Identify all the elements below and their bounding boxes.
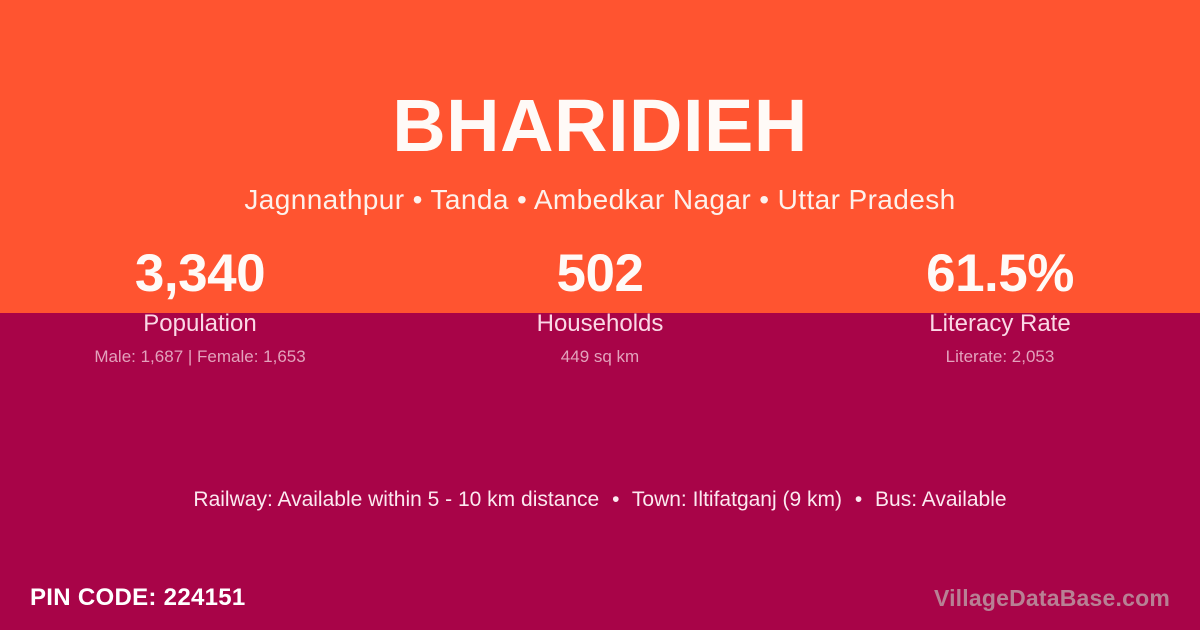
stat-literacy-label: Literacy Rate: [800, 309, 1200, 339]
stat-population: 3,340 Population Male: 1,687 | Female: 1…: [0, 243, 400, 368]
stat-literacy-value: 61.5%: [800, 243, 1200, 305]
stat-households-value: 502: [400, 243, 800, 305]
stat-literacy: 61.5% Literacy Rate Literate: 2,053: [800, 243, 1200, 368]
stat-population-label: Population: [0, 309, 400, 339]
footer: PIN CODE: 224151 VillageDataBase.com: [0, 568, 1200, 630]
stats-row: 3,340 Population Male: 1,687 | Female: 1…: [0, 243, 1200, 368]
stat-households: 502 Households 449 sq km: [400, 243, 800, 368]
brand-watermark: VillageDataBase.com: [934, 583, 1170, 613]
amenities-line: Railway: Available within 5 - 10 km dist…: [0, 485, 1200, 515]
stat-households-label: Households: [400, 309, 800, 339]
stat-population-sub: Male: 1,687 | Female: 1,653: [0, 346, 400, 368]
pin-code: PIN CODE: 224151: [30, 582, 246, 614]
breadcrumb: Jagnnathpur • Tanda • Ambedkar Nagar • U…: [0, 183, 1200, 217]
amenity-town: Town: Iltifatganj (9 km): [632, 488, 842, 511]
amenity-separator-2: •: [848, 485, 869, 515]
village-info-card: BHARIDIEH Jagnnathpur • Tanda • Ambedkar…: [0, 0, 1200, 630]
amenity-railway: Railway: Available within 5 - 10 km dist…: [193, 488, 599, 511]
stat-population-value: 3,340: [0, 243, 400, 305]
amenity-bus: Bus: Available: [875, 488, 1007, 511]
stat-households-sub: 449 sq km: [400, 346, 800, 368]
stat-literacy-sub: Literate: 2,053: [800, 346, 1200, 368]
page-title: BHARIDIEH: [0, 83, 1200, 169]
amenity-separator-1: •: [605, 485, 626, 515]
